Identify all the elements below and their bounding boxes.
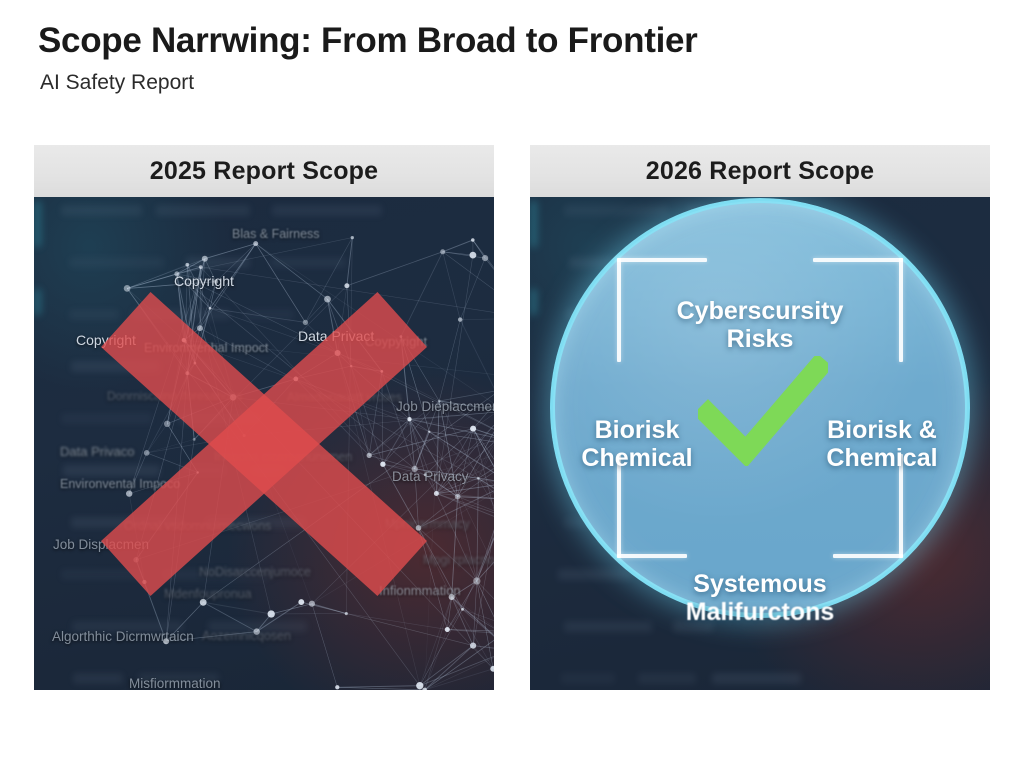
panel-2025-report-scope: 2025 Report Scope Blas & FairnessCopyrig… [34, 145, 494, 690]
focus-circle [550, 198, 970, 618]
panel-right-body: Cyberscursity Risks Biorisk Chemical Bio… [530, 197, 990, 690]
panel-left-header: 2025 Report Scope [34, 145, 494, 197]
page-title: Scope Narrwing: From Broad to Frontier [38, 21, 697, 61]
panel-2026-report-scope: 2026 Report Scope Cyberscursity Risks Bi… [530, 145, 990, 690]
panel-left-header-label: 2025 Report Scope [150, 157, 379, 186]
panel-left-body: Blas & FairnessCopyrightData PrivactCoyp… [34, 197, 494, 690]
page-subtitle: AI Safety Report [40, 71, 194, 95]
slide-root: Scope Narrwing: From Broad to Frontier A… [0, 0, 1024, 769]
panel-right-header: 2026 Report Scope [530, 145, 990, 197]
risk-network-graph [34, 197, 494, 690]
panel-right-header-label: 2026 Report Scope [646, 157, 875, 186]
